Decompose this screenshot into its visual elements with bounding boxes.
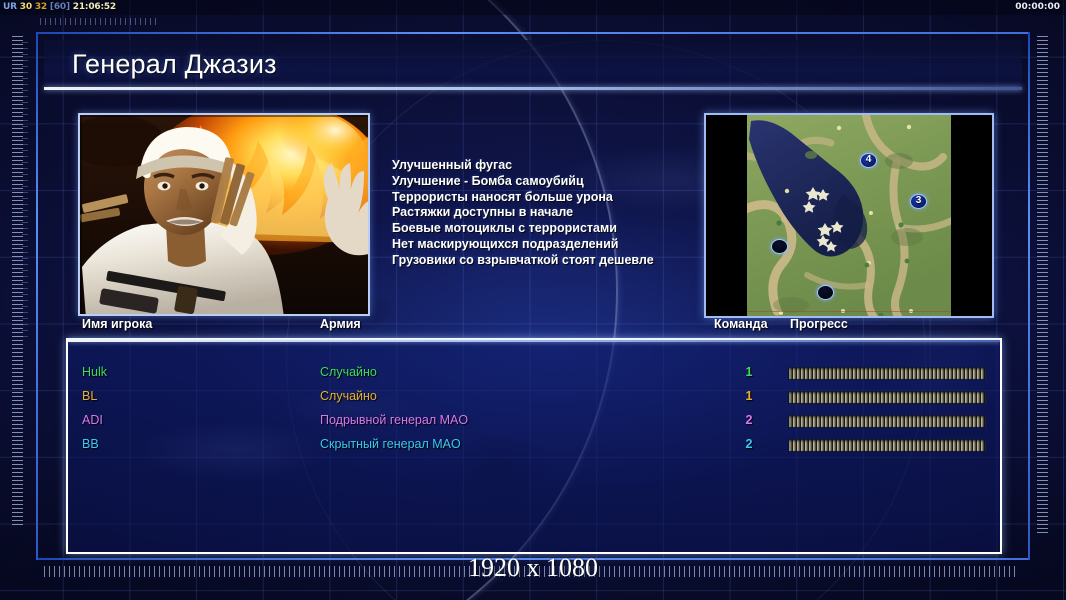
- general-abilities-list: Улучшенный фугас Улучшение - Бомба самоу…: [392, 158, 712, 269]
- table-row[interactable]: BB Скрытный генерал MAO 2: [68, 436, 1000, 460]
- ruler-ticks-right: [1037, 36, 1048, 536]
- frame-border-top: [36, 32, 1030, 34]
- top-status-bar: UR 30 32 [60] 21:06:52 00:00:00: [0, 0, 1066, 15]
- game-lobby-screen: UR 30 32 [60] 21:06:52 00:00:00 Генерал …: [0, 0, 1066, 600]
- minimap-letterbox-right: [951, 115, 992, 316]
- player-army[interactable]: Подрывной генерал MAO: [320, 412, 468, 429]
- ability-line: Террористы наносят больше урона: [392, 190, 712, 206]
- player-progress-bar: [788, 367, 986, 380]
- player-progress-bar: [788, 415, 986, 428]
- minimap-letterbox-left: [706, 115, 747, 316]
- players-panel: Имя игрока Армия Команда Прогресс Hulk С…: [66, 338, 1002, 554]
- ability-line: Улучшенный фугас: [392, 158, 712, 174]
- general-portrait-image: [80, 115, 368, 314]
- player-team[interactable]: 2: [723, 412, 775, 429]
- ability-line: Растяжки доступны в начале: [392, 205, 712, 221]
- player-name: BL: [82, 388, 97, 405]
- player-army[interactable]: Случайно: [320, 388, 377, 405]
- ability-line: Нет маскирующихся подразделений: [392, 237, 712, 253]
- minimap-start-position[interactable]: 3: [910, 194, 927, 209]
- title-divider: [44, 87, 1022, 90]
- player-name: BB: [82, 436, 99, 453]
- player-name: ADI: [82, 412, 103, 429]
- column-header-progress: Прогресс: [790, 316, 848, 332]
- player-army[interactable]: Скрытный генерал MAO: [320, 436, 461, 453]
- column-header-name: Имя игрока: [82, 316, 152, 332]
- player-team[interactable]: 1: [723, 364, 775, 381]
- ruler-ticks-left-secondary: [22, 42, 28, 342]
- fps-prefix: UR: [3, 2, 17, 12]
- minimap-frame[interactable]: 4 3: [704, 113, 994, 318]
- player-army[interactable]: Случайно: [320, 364, 377, 381]
- fps-value-secondary: 32: [35, 2, 47, 12]
- column-header-team: Команда: [714, 316, 768, 332]
- minimap-start-position[interactable]: [817, 285, 834, 300]
- minimap-start-position[interactable]: 4: [860, 153, 877, 168]
- table-row[interactable]: BL Случайно 1: [68, 388, 1000, 412]
- general-info-row: Улучшенный фугас Улучшение - Бомба самоу…: [44, 100, 1022, 332]
- player-team[interactable]: 1: [723, 388, 775, 405]
- frame-border-left: [36, 32, 38, 560]
- players-table-header: Имя игрока Армия Команда Прогресс: [68, 316, 1000, 338]
- title-bar: Генерал Джазиз: [44, 40, 1022, 90]
- player-name: Hulk: [82, 364, 107, 381]
- resolution-label: 1920 x 1080: [0, 552, 1066, 584]
- player-progress-bar: [788, 391, 986, 404]
- ability-line: Улучшение - Бомба самоубийц: [392, 174, 712, 190]
- ability-line: Грузовики со взрывчаткой стоят дешевле: [392, 253, 712, 269]
- table-row[interactable]: ADI Подрывной генерал MAO 2: [68, 412, 1000, 436]
- game-clock: 00:00:00: [1015, 1, 1060, 13]
- general-portrait-frame: [78, 113, 370, 316]
- column-header-army: Армия: [320, 316, 361, 332]
- session-time: 21:06:52: [73, 2, 116, 12]
- minimap-terrain-artwork: [747, 115, 951, 316]
- player-progress-bar: [788, 439, 986, 452]
- ruler-ticks-top: [40, 18, 160, 25]
- minimap-start-position[interactable]: [771, 239, 788, 254]
- table-header-divider: [68, 340, 1000, 342]
- fps-limit: [60]: [50, 2, 70, 12]
- minimap-terrain: [747, 115, 951, 316]
- player-team[interactable]: 2: [723, 436, 775, 453]
- fps-value: 30: [20, 2, 32, 12]
- page-title: Генерал Джазиз: [72, 47, 277, 81]
- table-row[interactable]: Hulk Случайно 1: [68, 364, 1000, 388]
- ability-line: Боевые мотоциклы с террористами: [392, 221, 712, 237]
- fps-counter: UR 30 32 [60] 21:06:52: [3, 1, 116, 13]
- general-portrait-artwork: [80, 115, 368, 314]
- frame-border-right: [1028, 32, 1030, 560]
